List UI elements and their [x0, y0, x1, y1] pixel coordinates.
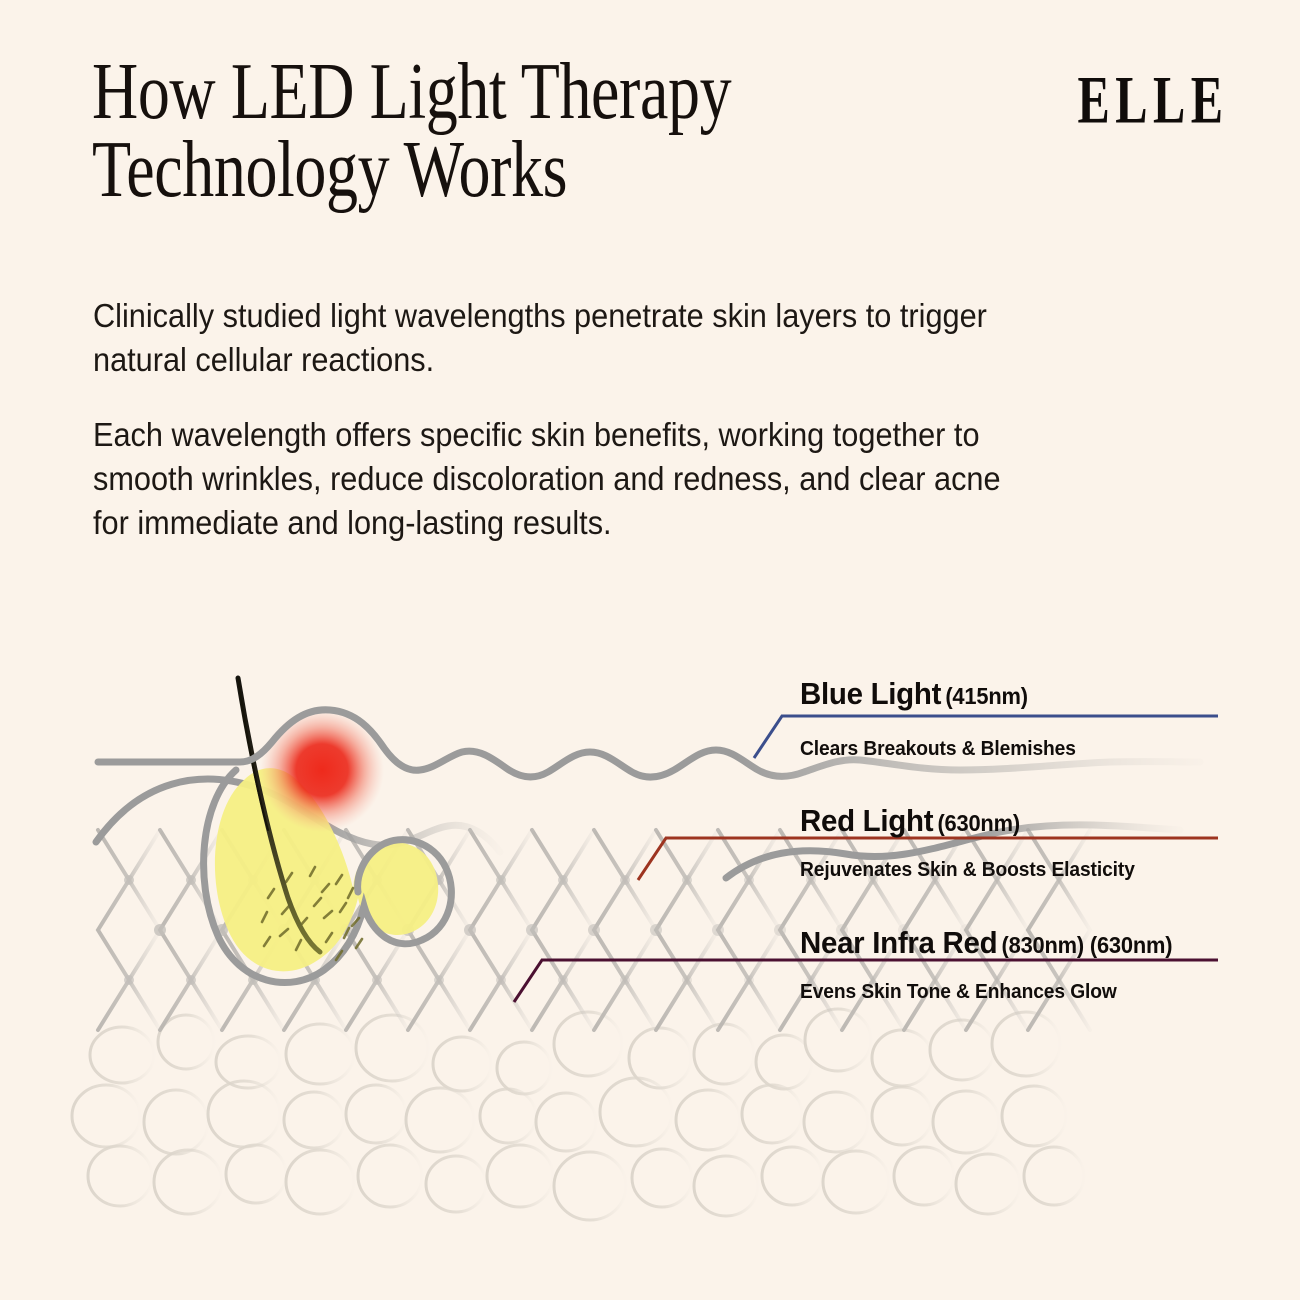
legend-name-blue-light: Blue Light: [800, 676, 941, 711]
legend-name-near-infra-red: Near Infra Red: [800, 925, 997, 960]
legend-wavelength-red-light: (630nm): [937, 810, 1019, 836]
legend-title-near-infra-red: Near Infra Red (830nm) (630nm): [800, 925, 1172, 961]
legend-wavelength-near-infra-red: (830nm) (630nm): [1002, 932, 1173, 958]
legend-description-blue-light: Clears Breakouts & Blemishes: [800, 738, 1076, 761]
intro-paragraph-2: Each wavelength offers specific skin ben…: [93, 413, 1056, 545]
legend-description-red-light: Rejuvenates Skin & Boosts Elasticity: [800, 859, 1135, 882]
legend-description-near-infra-red: Evens Skin Tone & Enhances Glow: [800, 981, 1117, 1004]
elle-logo: ELLE: [1077, 62, 1228, 140]
intro-paragraph-1: Clinically studied light wavelengths pen…: [93, 294, 1056, 382]
legend-wavelength-blue-light: (415nm): [945, 683, 1027, 709]
subcutaneous-fat-layer: [72, 1009, 1084, 1230]
page-title: How LED Light Therapy Technology Works: [92, 54, 780, 209]
legend-title-red-light: Red Light (630nm): [800, 803, 1020, 839]
legend-name-red-light: Red Light: [800, 803, 933, 838]
legend-title-blue-light: Blue Light (415nm): [800, 676, 1028, 712]
